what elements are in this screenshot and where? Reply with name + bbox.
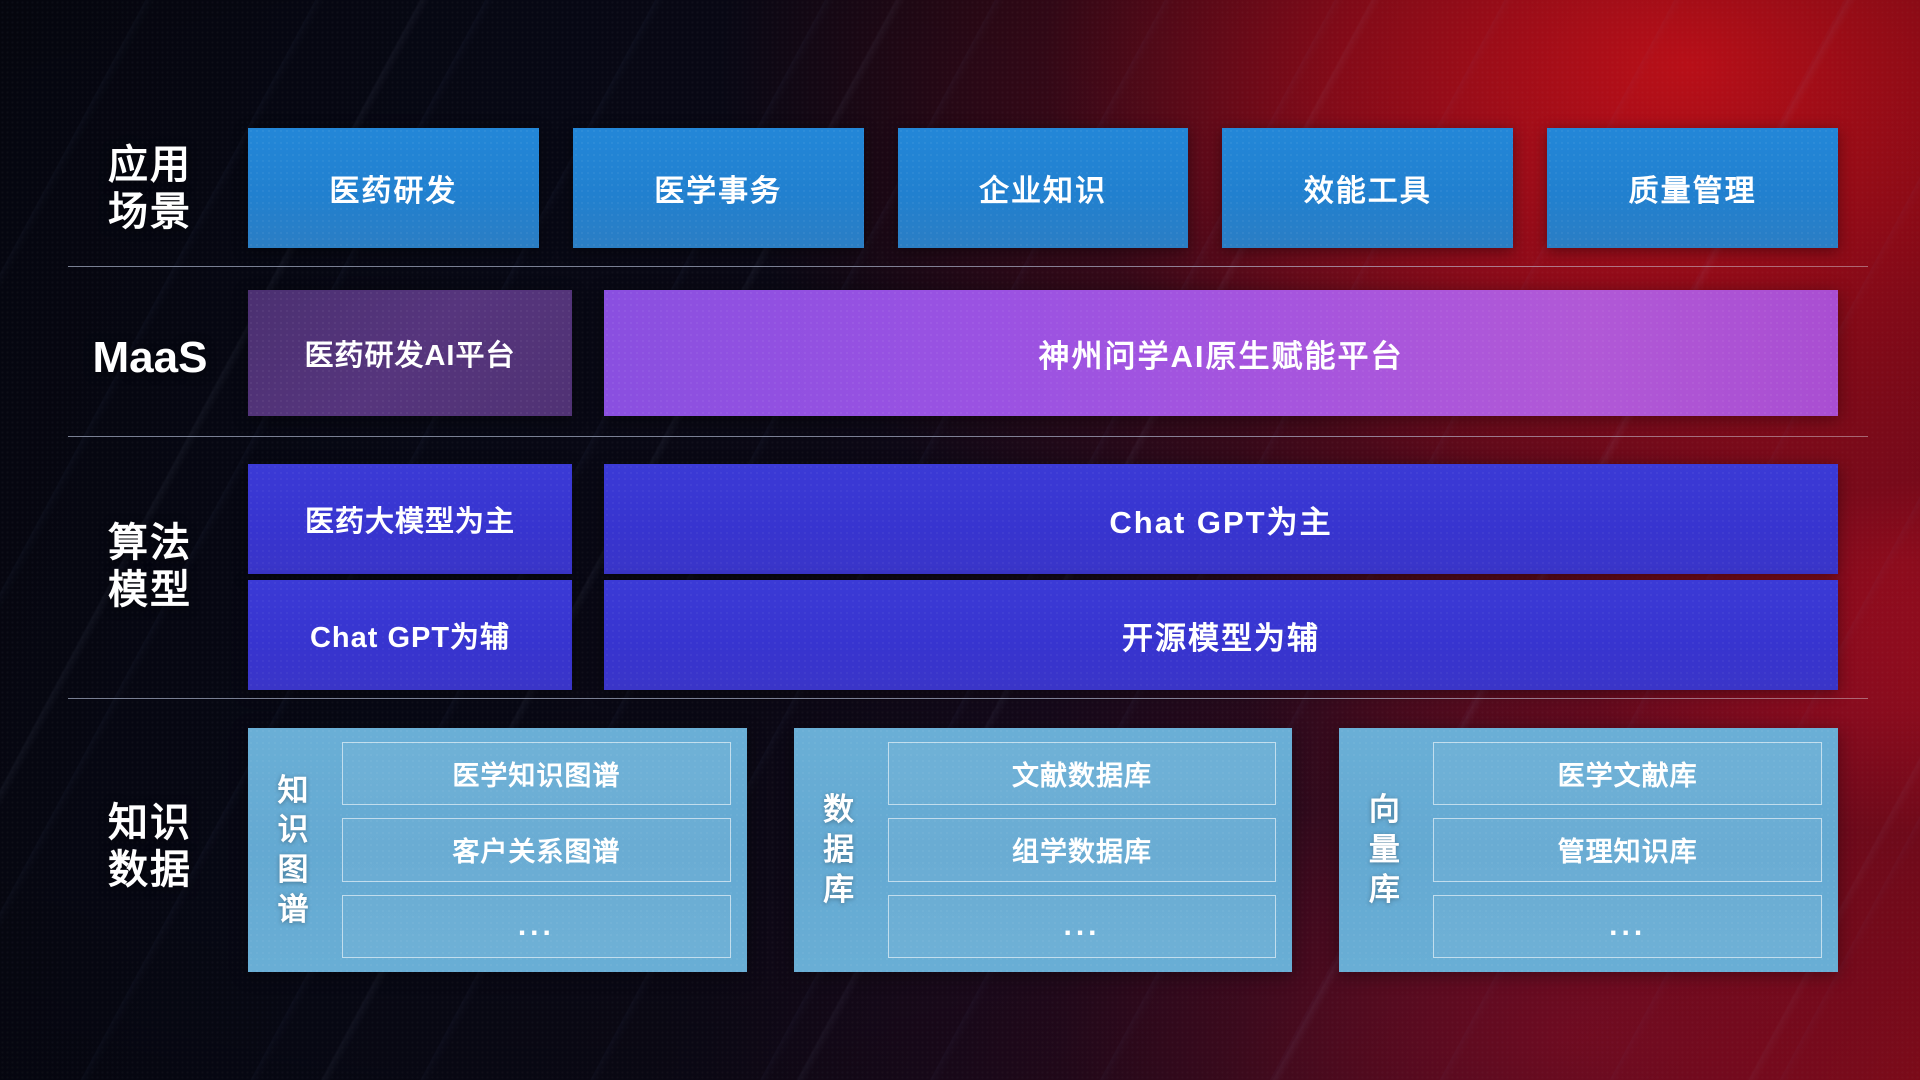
knowledge-item-medical-literature-library[interactable]: 医学文献库 xyxy=(1433,742,1822,805)
title-char: 库 xyxy=(1369,870,1400,910)
title-char: 向 xyxy=(1369,790,1400,830)
knowledge-item-literature-database[interactable]: 文献数据库 xyxy=(888,742,1277,805)
title-char: 量 xyxy=(1369,830,1400,870)
algo-box-pharma-large-model-primary[interactable]: 医药大模型为主 xyxy=(248,464,572,574)
app-box-medical-affairs[interactable]: 医学事务 xyxy=(573,128,864,248)
app-box-label: 效能工具 xyxy=(1304,166,1432,210)
title-char: 知 xyxy=(278,771,309,811)
knowledge-group-title-database: 数 据 库 xyxy=(808,742,870,958)
divider-application-maas xyxy=(68,266,1868,267)
algo-box-label: Chat GPT为辅 xyxy=(310,614,510,656)
tier-label-knowledge-line2: 数据 xyxy=(60,847,240,894)
app-box-label: 质量管理 xyxy=(1629,166,1757,210)
tier-label-algorithm: 算法 模型 xyxy=(60,520,240,614)
algo-box-label: Chat GPT为主 xyxy=(1109,497,1332,542)
tier-label-knowledge: 知识 数据 xyxy=(60,800,240,894)
knowledge-item-more[interactable]: ... xyxy=(342,895,731,958)
knowledge-group-database: 数 据 库 文献数据库 组学数据库 ... xyxy=(794,728,1293,972)
knowledge-item-more[interactable]: ... xyxy=(888,895,1277,958)
maas-box-label: 神州问学AI原生赋能平台 xyxy=(1039,331,1404,376)
title-char: 数 xyxy=(823,790,854,830)
algorithm-box-group: 医药大模型为主 Chat GPT为主 Chat GPT为辅 开源模型为辅 xyxy=(248,464,1838,696)
app-box-enterprise-knowledge[interactable]: 企业知识 xyxy=(898,128,1189,248)
knowledge-item-list: 医学知识图谱 客户关系图谱 ... xyxy=(342,742,731,958)
tier-label-maas: MaaS xyxy=(60,332,240,384)
tier-label-application-line2: 场景 xyxy=(60,189,240,236)
knowledge-item-omics-database[interactable]: 组学数据库 xyxy=(888,818,1277,881)
knowledge-group-vector-database: 向 量 库 医学文献库 管理知识库 ... xyxy=(1339,728,1838,972)
knowledge-group-knowledge-graph: 知 识 图 谱 医学知识图谱 客户关系图谱 ... xyxy=(248,728,747,972)
tier-label-maas-text: MaaS xyxy=(60,332,240,384)
tier-label-knowledge-line1: 知识 xyxy=(60,800,240,847)
app-box-efficiency-tools[interactable]: 效能工具 xyxy=(1222,128,1513,248)
algo-box-label: 医药大模型为主 xyxy=(305,498,515,540)
algo-box-label: 开源模型为辅 xyxy=(1122,613,1320,658)
algo-box-chatgpt-primary[interactable]: Chat GPT为主 xyxy=(604,464,1838,574)
knowledge-item-management-knowledge-library[interactable]: 管理知识库 xyxy=(1433,818,1822,881)
app-box-quality-management[interactable]: 质量管理 xyxy=(1547,128,1838,248)
title-char: 库 xyxy=(823,870,854,910)
knowledge-item-medical-knowledge-graph[interactable]: 医学知识图谱 xyxy=(342,742,731,805)
application-box-group: 医药研发 医学事务 企业知识 效能工具 质量管理 xyxy=(248,128,1838,248)
maas-box-group: 医药研发AI平台 神州问学AI原生赋能平台 xyxy=(248,290,1838,416)
knowledge-item-list: 文献数据库 组学数据库 ... xyxy=(888,742,1277,958)
knowledge-group-title-knowledge-graph: 知 识 图 谱 xyxy=(262,742,324,958)
title-char: 识 xyxy=(278,810,309,850)
tier-label-algorithm-line1: 算法 xyxy=(60,520,240,567)
maas-box-shenzhou-wenxue-platform[interactable]: 神州问学AI原生赋能平台 xyxy=(604,290,1838,416)
app-box-medicine-rnd[interactable]: 医药研发 xyxy=(248,128,539,248)
title-char: 据 xyxy=(823,830,854,870)
title-char: 谱 xyxy=(278,890,309,930)
tier-label-application: 应用 场景 xyxy=(60,142,240,236)
app-box-label: 医药研发 xyxy=(329,166,457,210)
tier-label-algorithm-line2: 模型 xyxy=(60,567,240,614)
knowledge-group-container: 知 识 图 谱 医学知识图谱 客户关系图谱 ... 数 据 库 文献数据库 组学… xyxy=(248,728,1838,972)
algo-box-opensource-secondary[interactable]: 开源模型为辅 xyxy=(604,580,1838,690)
knowledge-item-more[interactable]: ... xyxy=(1433,895,1822,958)
title-char: 图 xyxy=(278,850,309,890)
app-box-label: 企业知识 xyxy=(979,166,1107,210)
divider-algorithm-knowledge xyxy=(68,698,1868,699)
maas-box-label: 医药研发AI平台 xyxy=(304,332,515,374)
knowledge-item-list: 医学文献库 管理知识库 ... xyxy=(1433,742,1822,958)
algo-box-chatgpt-secondary[interactable]: Chat GPT为辅 xyxy=(248,580,572,690)
tier-label-application-line1: 应用 xyxy=(60,142,240,189)
algorithm-row-primary: 医药大模型为主 Chat GPT为主 xyxy=(248,464,1838,574)
architecture-diagram: 应用 场景 医药研发 医学事务 企业知识 效能工具 质量管理 MaaS 医药研发… xyxy=(0,0,1920,1080)
knowledge-item-customer-relation-graph[interactable]: 客户关系图谱 xyxy=(342,818,731,881)
maas-box-pharma-ai-platform[interactable]: 医药研发AI平台 xyxy=(248,290,572,416)
app-box-label: 医学事务 xyxy=(654,166,782,210)
divider-maas-algorithm xyxy=(68,436,1868,437)
algorithm-row-secondary: Chat GPT为辅 开源模型为辅 xyxy=(248,580,1838,690)
knowledge-group-title-vector-database: 向 量 库 xyxy=(1353,742,1415,958)
